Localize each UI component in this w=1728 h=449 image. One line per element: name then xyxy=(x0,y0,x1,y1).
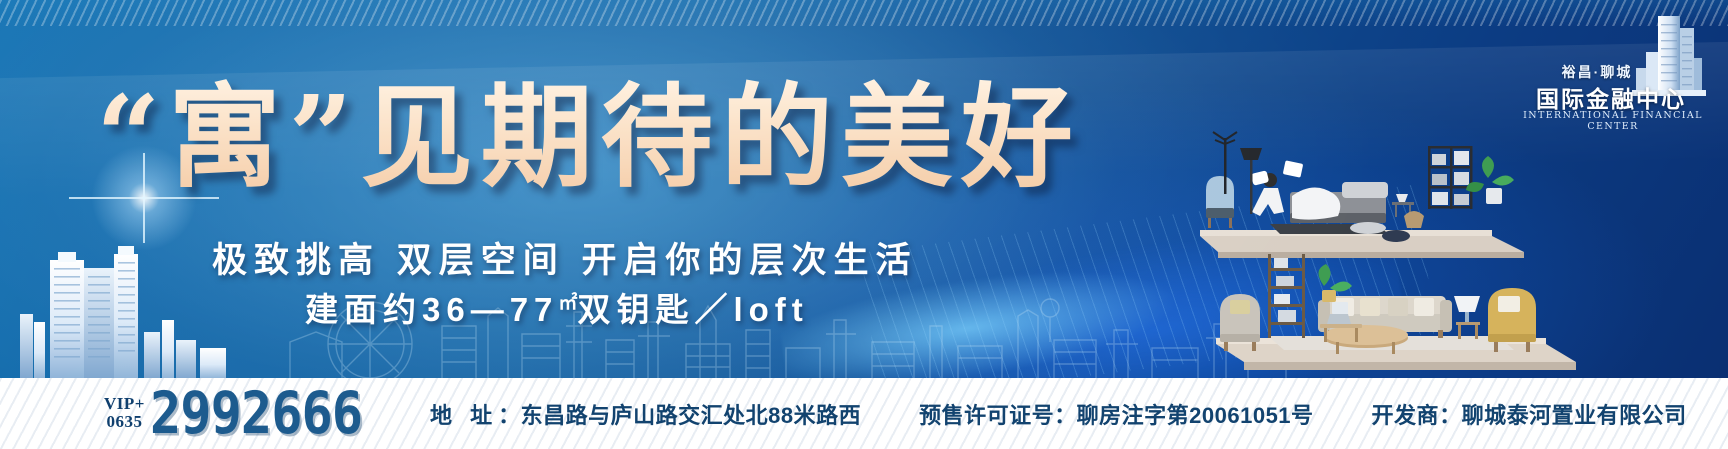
subheadline-area-spec: 建面约36—77㎡双钥匙／loft xyxy=(305,283,809,331)
contact-info-bar: VIP+ 0635 2992666 地 址：东昌路与庐山路交汇处北88米路西 预… xyxy=(0,378,1728,449)
presale-permit-separator: ： xyxy=(1054,403,1077,428)
logo-line-1: 裕昌·聊城 xyxy=(1522,62,1672,82)
vip-label-group: VIP+ 0635 xyxy=(104,395,145,433)
address-separator: ： xyxy=(498,403,521,428)
info-item-list: 地 址：东昌路与庐山路交汇处北88米路西 预售许可证号：聊房注字第2006105… xyxy=(430,398,1708,430)
area-spec-prefix: 建面约36—77 xyxy=(305,291,558,328)
headline-text: “寓”见期待的美好 xyxy=(96,72,1081,204)
info-item-presale-permit: 预售许可证号：聊房注字第20061051号 xyxy=(919,398,1313,430)
loft-living-room-render xyxy=(1198,252,1578,378)
vip-label: VIP+ xyxy=(104,395,145,413)
logo-line-2: 国际金融中心 xyxy=(1522,80,1700,114)
address-label: 地 址 xyxy=(430,403,498,428)
top-diagonal-stripe-pattern xyxy=(0,0,1728,26)
info-item-address: 地 址：东昌路与庐山路交汇处北88米路西 xyxy=(430,398,861,430)
project-logo: 裕昌·聊城 国际金融中心 INTERNATIONAL FINANCIAL CEN… xyxy=(1522,18,1712,136)
loft-bedroom-render xyxy=(1192,118,1532,268)
banner-artwork-background: “寓”见期待的美好 极致挑高 双层空间 开启你的层次生活 建面约36—77㎡双钥… xyxy=(0,0,1728,378)
logo-line-3: INTERNATIONAL FINANCIAL CENTER xyxy=(1522,110,1704,132)
phone-number[interactable]: 2992666 xyxy=(150,384,362,442)
developer-separator: ： xyxy=(1439,403,1462,428)
developer-label: 开发商 xyxy=(1372,403,1440,428)
subheadline-features: 极致挑高 双层空间 开启你的层次生活 xyxy=(212,232,917,283)
property-advertisement-banner: “寓”见期待的美好 极致挑高 双层空间 开启你的层次生活 建面约36—77㎡双钥… xyxy=(0,0,1728,449)
area-spec-suffix: 双钥匙／loft xyxy=(577,291,808,328)
area-code-label: 0635 xyxy=(104,413,145,431)
info-item-developer: 开发商：聊城泰河置业有限公司 xyxy=(1372,398,1687,430)
developer-value: 聊城泰河置业有限公司 xyxy=(1462,403,1687,428)
presale-permit-value: 聊房注字第20061051号 xyxy=(1077,403,1314,428)
area-spec-unit: ㎡ xyxy=(558,293,577,314)
phone-block[interactable]: VIP+ 0635 2992666 xyxy=(104,388,362,440)
address-value: 东昌路与庐山路交汇处北88米路西 xyxy=(521,403,861,428)
presale-permit-label: 预售许可证号 xyxy=(919,403,1054,428)
